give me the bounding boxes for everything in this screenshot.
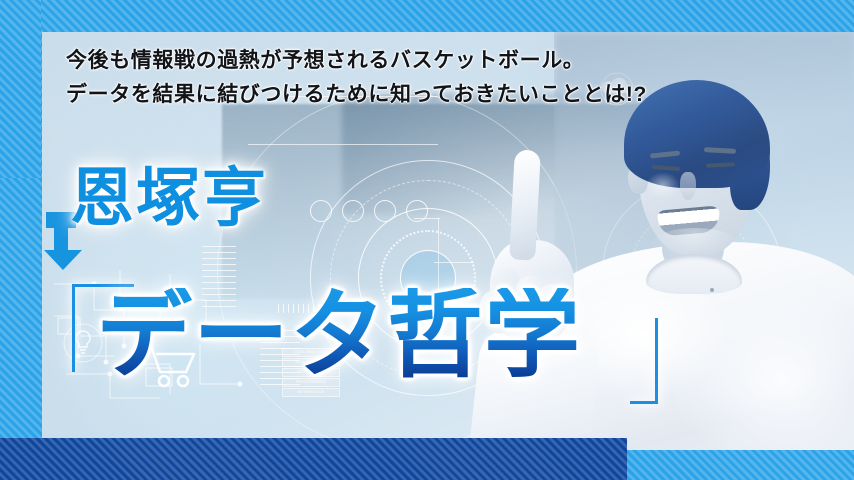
page-title: データ哲学: [96, 288, 581, 384]
hud-circle-c: [374, 200, 396, 222]
hud-circle-d: [406, 200, 428, 222]
frame-stripes-right: [0, 0, 41, 178]
presenter-nose: [680, 172, 696, 200]
hud-line-5: [414, 218, 440, 219]
hud-line-3: [434, 262, 474, 263]
presenter-cheek: [646, 172, 680, 198]
hud-circle-a: [310, 200, 332, 222]
headline-line-1: 今後も情報戦の過熱が予想されるバスケットボール。: [66, 44, 647, 78]
headline-line-2: データを結果に結びつけるために知っておきたいこととは!?: [66, 78, 647, 112]
headline: 今後も情報戦の過熱が予想されるバスケットボール。 データを結果に結びつけるために…: [66, 44, 647, 112]
hud-circle-b: [342, 200, 364, 222]
thumbnail-canvas: DATA ANALYTICS TOOL LEARNING TEST MARKET…: [0, 0, 854, 480]
quote-bracket-close: [630, 318, 658, 404]
hud-line-1: [248, 144, 438, 145]
frame-stripes-bottom: [0, 438, 627, 480]
presenter-name: 恩塚亨: [70, 166, 268, 230]
hud-label-5: INFORMATION: [282, 388, 340, 397]
presenter-mole: [710, 288, 714, 292]
